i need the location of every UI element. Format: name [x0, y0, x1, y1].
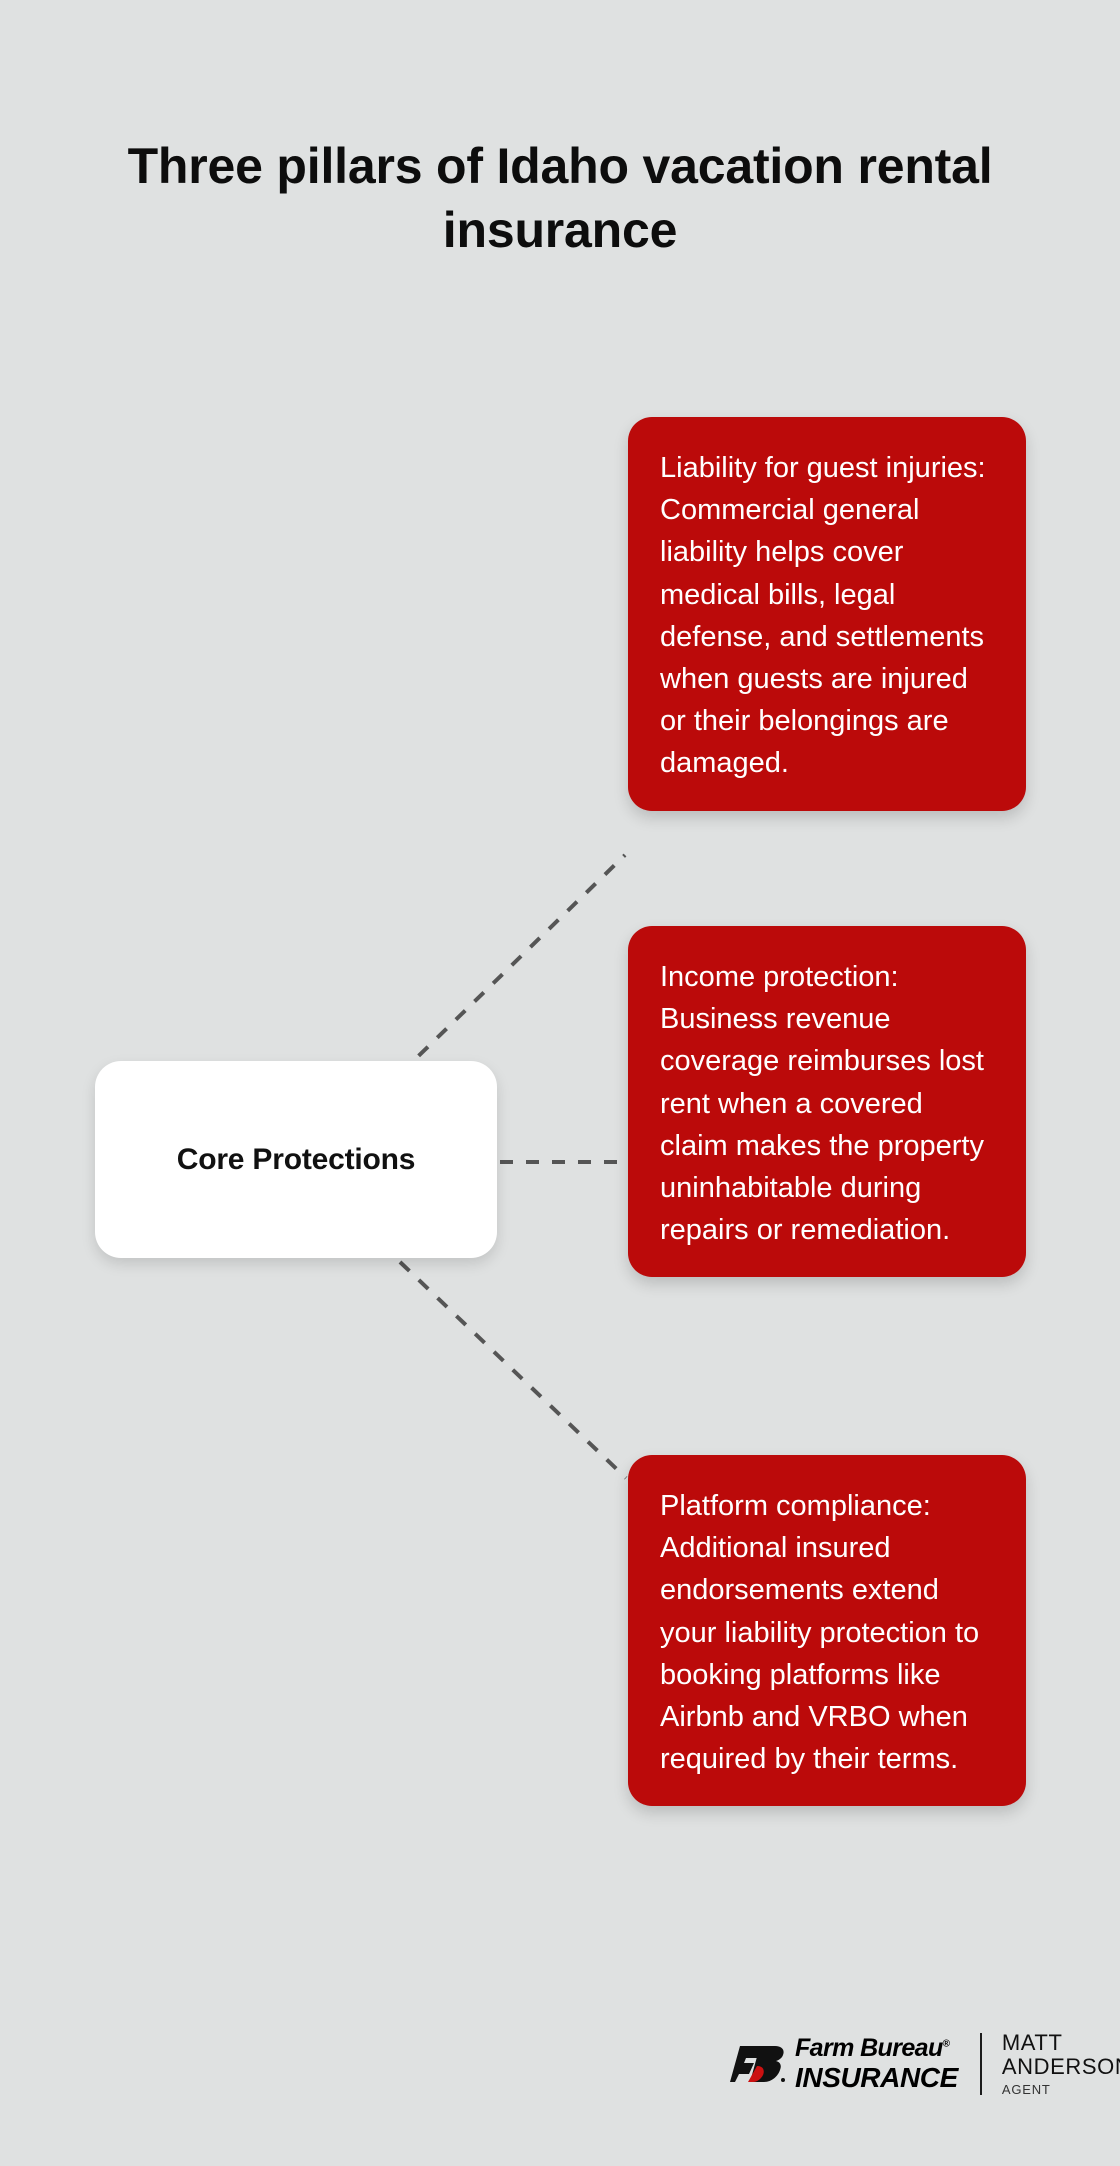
agent-info: MATT ANDERSON AGENT: [1002, 2031, 1120, 2098]
footer-divider: [980, 2033, 982, 2095]
branch-card-text: Liability for guest injuries: Commercial…: [660, 447, 996, 785]
agent-first-name: MATT: [1002, 2031, 1120, 2056]
connector-line-top: [400, 855, 625, 1074]
center-node[interactable]: Core Protections: [95, 1061, 497, 1258]
center-node-label: Core Protections: [177, 1143, 416, 1177]
footer-logo-lockup: Farm Bureau® INSURANCE MATT ANDERSON AGE…: [730, 2033, 1120, 2095]
agent-role-label: AGENT: [1002, 2083, 1120, 2098]
branch-card-text: Income protection: Business revenue cove…: [660, 956, 996, 1251]
brand-name-line-1: Farm Bureau®: [795, 2036, 958, 2061]
connector-line-bottom: [400, 1262, 626, 1478]
branch-card-platform[interactable]: Platform compliance: Additional insured …: [628, 1455, 1026, 1806]
mind-map-diagram: Core Protections Liability for guest inj…: [0, 0, 1120, 2166]
branch-card-income[interactable]: Income protection: Business revenue cove…: [628, 926, 1026, 1277]
brand-name-line-2: INSURANCE: [795, 2064, 958, 2092]
registered-trademark-icon: ®: [943, 2039, 950, 2050]
branch-card-liability[interactable]: Liability for guest injuries: Commercial…: [628, 417, 1026, 811]
farm-bureau-fb-logo-icon: [730, 2044, 786, 2084]
farm-bureau-wordmark: Farm Bureau® INSURANCE: [795, 2036, 958, 2092]
agent-last-name: ANDERSON: [1002, 2055, 1120, 2080]
branch-card-text: Platform compliance: Additional insured …: [660, 1485, 996, 1780]
